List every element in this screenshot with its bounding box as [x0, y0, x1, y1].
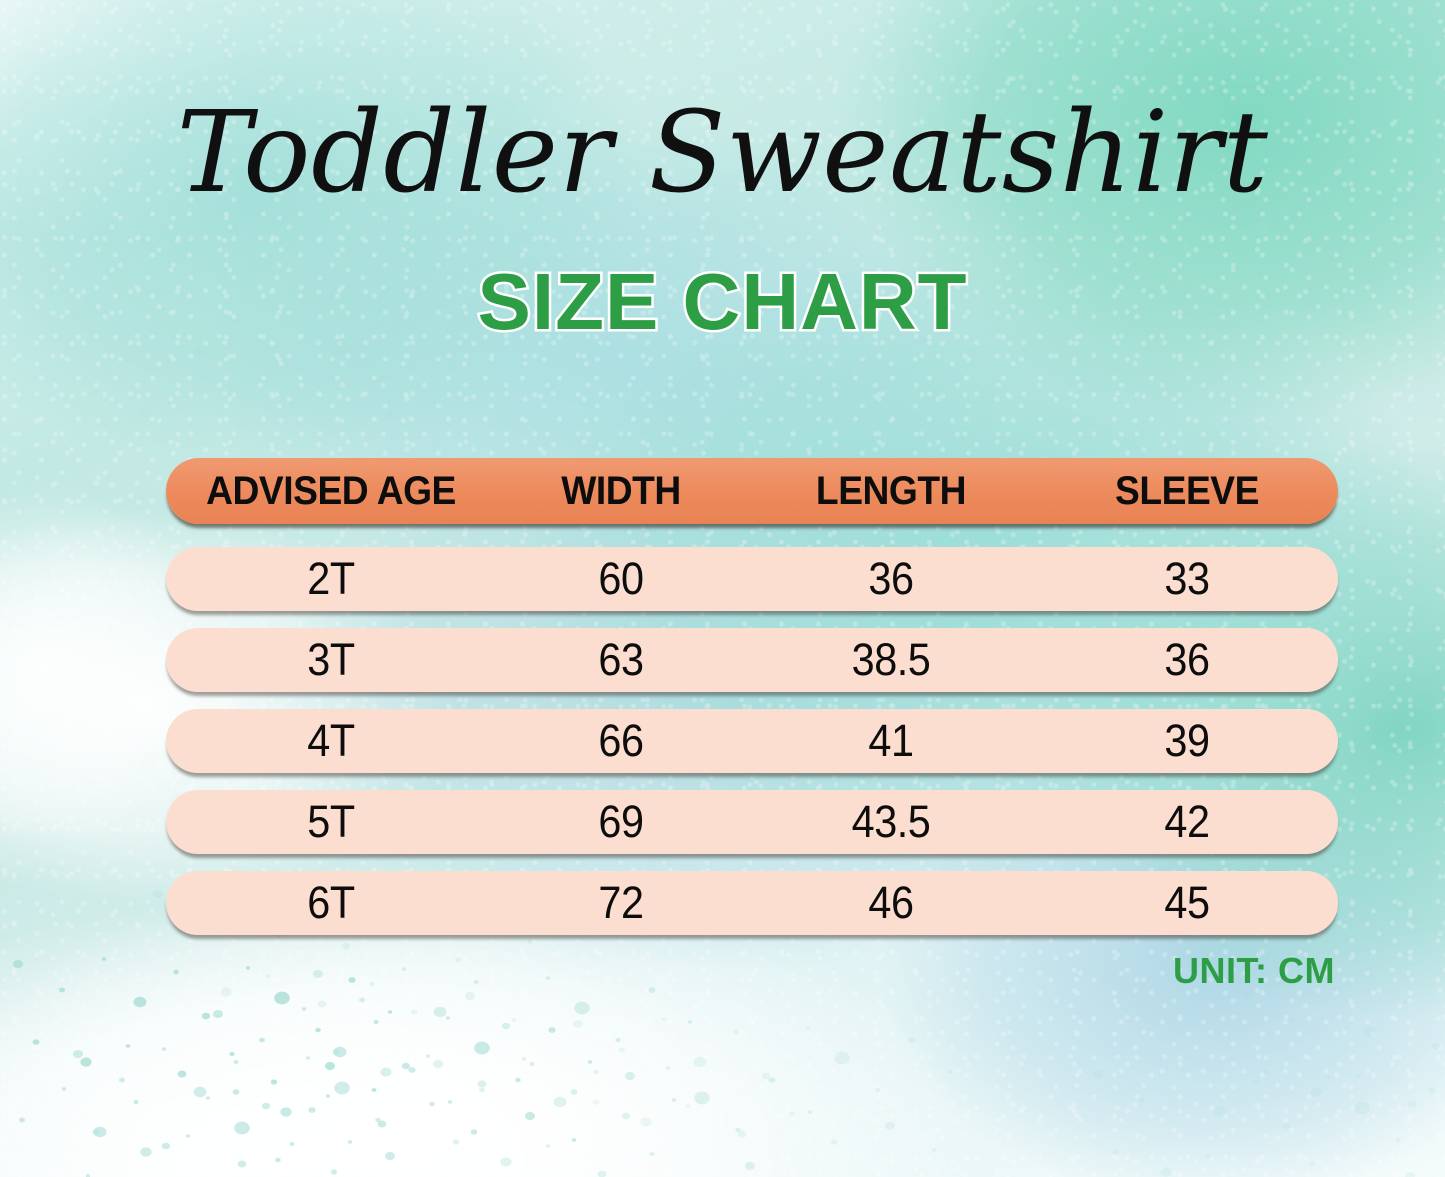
table-row: 6T 72 46 45 — [166, 871, 1338, 935]
cell-width: 66 — [506, 715, 736, 767]
cell-length: 43.5 — [758, 796, 1025, 848]
cell-length: 41 — [758, 715, 1025, 767]
page-title: Toddler Sweatshirt — [0, 96, 1445, 210]
table-header-row: ADVISED AGE WIDTH LENGTH SLEEVE — [166, 458, 1338, 524]
cell-sleeve: 39 — [1048, 715, 1326, 767]
cell-sleeve: 36 — [1048, 634, 1326, 686]
column-header-sleeve: SLEEVE — [1047, 469, 1328, 514]
page-subtitle: SIZE CHART — [0, 262, 1445, 342]
cell-sleeve: 45 — [1048, 877, 1326, 929]
cell-width: 60 — [506, 553, 736, 605]
cell-length: 38.5 — [758, 634, 1025, 686]
column-header-length: LENGTH — [756, 469, 1026, 514]
cell-advised-age: 4T — [179, 715, 483, 767]
size-chart-table: ADVISED AGE WIDTH LENGTH SLEEVE 2T 60 36… — [166, 458, 1338, 935]
unit-note: UNIT: CM — [1173, 950, 1335, 992]
table-row: 2T 60 36 33 — [166, 547, 1338, 611]
cell-advised-age: 2T — [179, 553, 483, 605]
cell-advised-age: 3T — [179, 634, 483, 686]
table-row: 5T 69 43.5 42 — [166, 790, 1338, 854]
table-row: 4T 66 41 39 — [166, 709, 1338, 773]
cell-length: 46 — [758, 877, 1025, 929]
cell-width: 63 — [506, 634, 736, 686]
cell-sleeve: 33 — [1048, 553, 1326, 605]
cell-advised-age: 5T — [179, 796, 483, 848]
cell-width: 69 — [506, 796, 736, 848]
column-header-width: WIDTH — [505, 469, 738, 514]
cell-sleeve: 42 — [1048, 796, 1326, 848]
cell-width: 72 — [506, 877, 736, 929]
cell-length: 36 — [758, 553, 1025, 605]
column-header-advised-age: ADVISED AGE — [178, 469, 485, 514]
cell-advised-age: 6T — [179, 877, 483, 929]
table-row: 3T 63 38.5 36 — [166, 628, 1338, 692]
size-chart-canvas: Toddler Sweatshirt SIZE CHART ADVISED AG… — [0, 0, 1445, 1177]
